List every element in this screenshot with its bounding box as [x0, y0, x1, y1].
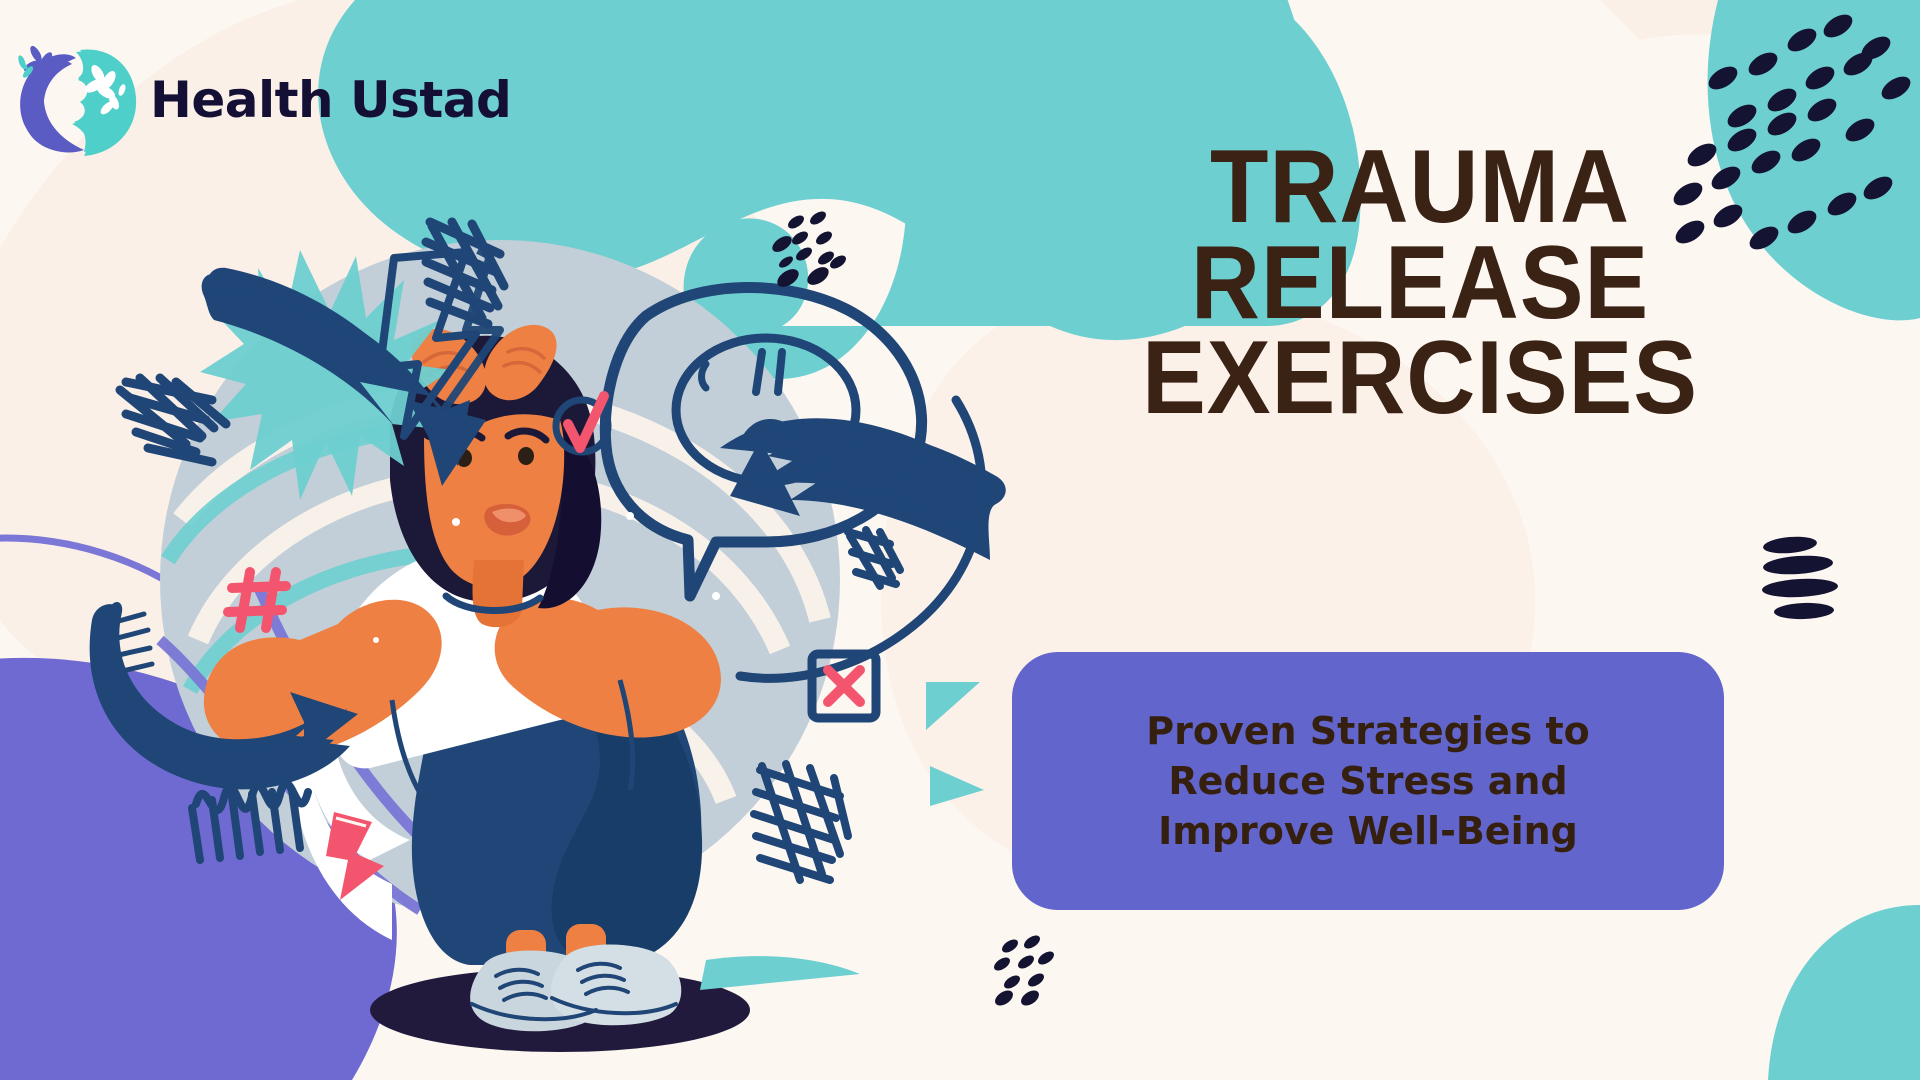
subtitle-line-2: Reduce Stress and [1168, 756, 1567, 806]
brand-logo[interactable]: Health Ustad [14, 40, 511, 160]
page-title: TRAUMA RELEASE EXERCISES [1100, 140, 1740, 427]
subtitle-line-1: Proven Strategies to [1146, 706, 1590, 756]
page-title-line-3: EXERCISES [1126, 331, 1715, 427]
subtitle-badge: Proven Strategies to Reduce Stress and I… [1012, 652, 1724, 910]
page-title-line-1: TRAUMA [1126, 140, 1715, 236]
subtitle-line-3: Improve Well-Being [1158, 806, 1578, 856]
page-title-line-2: RELEASE [1126, 236, 1715, 332]
brand-logo-text: Health Ustad [150, 75, 511, 125]
lotus-head-silhouette-logo-icon [14, 40, 144, 160]
